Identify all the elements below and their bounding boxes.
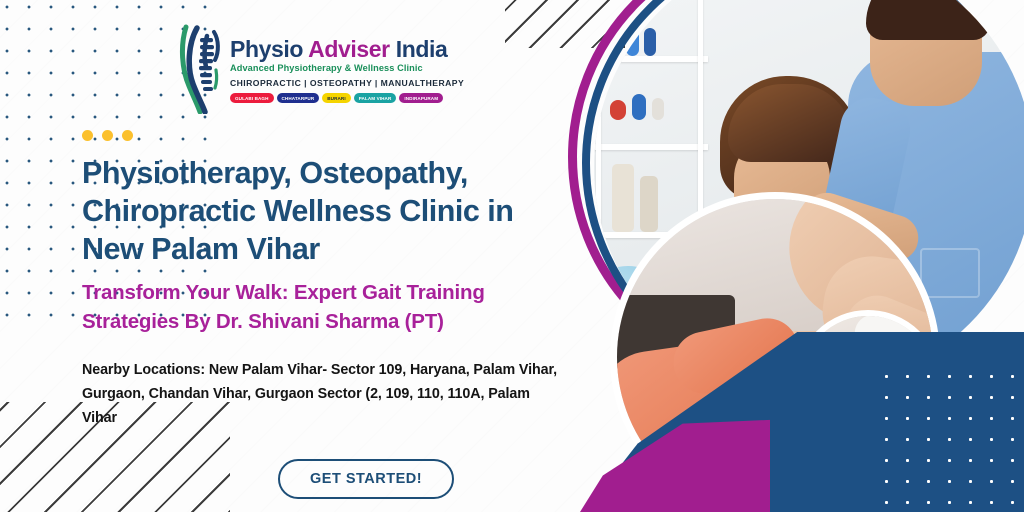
logo-services-line: CHIROPRACTIC | OSTEOPATHY | MANUALTHERAP… [230, 78, 464, 88]
logo-tagline: Advanced Physiotherapy & Wellness Clinic [230, 63, 464, 73]
accent-dot [122, 130, 133, 141]
accent-dot [102, 130, 113, 141]
logo-title: Physio Adviser India [230, 38, 464, 61]
location-badge[interactable]: GULABI BAGH [230, 93, 274, 103]
magenta-wedge-decoration [580, 416, 770, 512]
get-started-button[interactable]: GET STARTED! [278, 459, 454, 499]
location-badge[interactable]: INDIRAPURAM [399, 93, 443, 103]
logo-title-part2: Adviser [308, 36, 390, 62]
page-title: Physiotherapy, Osteopathy, Chiropractic … [82, 155, 582, 268]
location-badge-list: GULABI BAGHCHHATARPURBURARIPALAM VIHARIN… [230, 93, 464, 103]
location-badge[interactable]: CHHATARPUR [277, 93, 320, 103]
page-subtitle: Transform Your Walk: Expert Gait Trainin… [82, 278, 582, 336]
spine-icon [178, 20, 228, 119]
logo-title-part3: India [390, 36, 448, 62]
dot-grid-bottom-right [876, 366, 1016, 506]
logo-title-part1: Physio [230, 36, 308, 62]
location-badge[interactable]: BURARI [322, 93, 350, 103]
nearby-locations-text: Nearby Locations: New Palam Vihar- Secto… [82, 358, 567, 430]
accent-dot [82, 130, 93, 141]
promo-banner: Physio Adviser India Advanced Physiother… [0, 0, 1024, 512]
location-badge[interactable]: PALAM VIHAR [354, 93, 397, 103]
accent-dots [82, 130, 133, 141]
brand-logo[interactable]: Physio Adviser India Advanced Physiother… [178, 20, 428, 116]
